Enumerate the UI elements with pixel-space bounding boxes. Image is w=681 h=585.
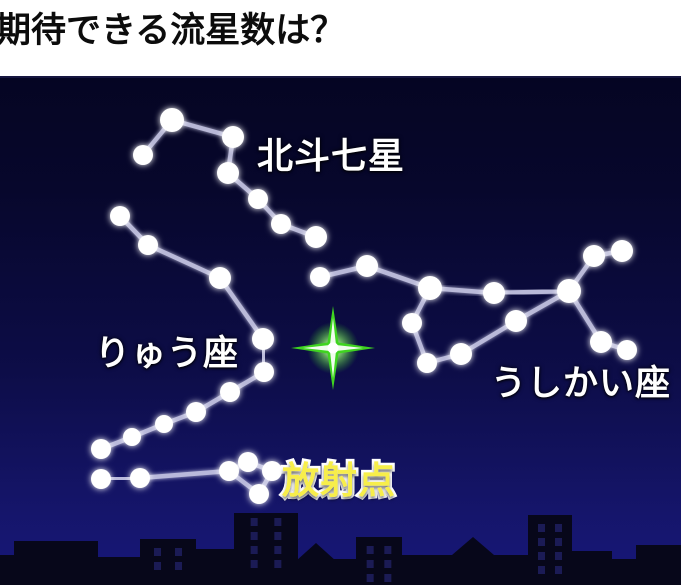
building-window: [555, 552, 562, 560]
building-silhouette: [636, 545, 681, 585]
star-point: [617, 340, 637, 360]
building-window: [367, 546, 374, 554]
star-point: [110, 206, 130, 226]
constellation-line: [140, 471, 229, 478]
radiant-label-text: 放射点: [282, 460, 396, 501]
star-point: [417, 353, 437, 373]
star-point: [557, 279, 581, 303]
building-window: [251, 560, 258, 568]
night-sky-panel: 北斗七星 りゅう座 うしかい座 放射点 北東: [0, 78, 681, 585]
building-window: [555, 538, 562, 546]
star-point: [418, 276, 442, 300]
page-title: 期待できる流星数は？: [0, 9, 345, 53]
star-point: [91, 439, 111, 459]
building-window: [538, 566, 545, 574]
building-silhouette: [528, 515, 572, 585]
star-point: [248, 189, 268, 209]
building-silhouette: [98, 557, 142, 585]
star-point: [590, 331, 612, 353]
building-window: [274, 546, 281, 554]
building-window: [154, 548, 161, 556]
star-point: [217, 162, 239, 184]
radiant-label: 放射点: [272, 458, 406, 504]
label-big-dipper: 北斗七星: [257, 138, 405, 174]
star-point: [305, 226, 327, 248]
star-point: [252, 328, 274, 350]
building-silhouette: [196, 549, 238, 585]
star-point: [450, 343, 472, 365]
building-window: [274, 532, 281, 540]
star-point: [186, 402, 206, 422]
star-point: [505, 310, 527, 332]
building-window: [367, 560, 374, 568]
radiant-point-icon: [291, 306, 375, 390]
star-point: [310, 267, 330, 287]
building-window: [274, 560, 281, 568]
star-chart-page: 期待できる流星数は？: [0, 0, 681, 585]
building-window: [274, 518, 281, 526]
star-point: [220, 382, 240, 402]
building-window: [175, 548, 182, 556]
star-point: [271, 214, 291, 234]
building-window: [251, 518, 258, 526]
star-point: [583, 245, 605, 267]
city-skyline: [0, 513, 681, 585]
star-point: [238, 452, 258, 472]
building-window: [367, 574, 374, 582]
star-point: [402, 313, 422, 333]
building-window: [555, 524, 562, 532]
building-window: [538, 552, 545, 560]
building-silhouette: [234, 513, 298, 585]
star-point: [356, 255, 378, 277]
building-window: [538, 524, 545, 532]
building-window: [384, 546, 391, 554]
constellation-line: [220, 278, 263, 339]
star-point: [155, 415, 173, 433]
building-silhouette: [452, 537, 494, 585]
label-draco: りゅう座: [95, 336, 239, 371]
star-point: [133, 145, 153, 165]
building-silhouette: [14, 541, 98, 585]
building-window: [154, 562, 161, 570]
building-window: [538, 538, 545, 546]
star-point: [249, 484, 269, 504]
building-silhouette: [494, 555, 532, 585]
building-silhouette: [356, 537, 402, 585]
building-silhouette: [330, 559, 356, 585]
star-point: [160, 108, 184, 132]
building-window: [251, 546, 258, 554]
title-band: 期待できる流星数は？: [0, 0, 681, 78]
building-window: [251, 532, 258, 540]
building-window: [555, 566, 562, 574]
building-silhouette: [570, 551, 612, 585]
star-point: [219, 461, 239, 481]
star-point: [222, 126, 244, 148]
label-bootes: うしかい座: [491, 366, 671, 401]
star-point: [123, 428, 141, 446]
star-point: [138, 235, 158, 255]
star-point: [254, 362, 274, 382]
building-window: [384, 560, 391, 568]
building-silhouette: [140, 539, 196, 585]
building-window: [384, 574, 391, 582]
constellation-line: [148, 245, 220, 278]
star-point: [130, 468, 150, 488]
building-window: [175, 562, 182, 570]
star-point: [483, 282, 505, 304]
star-point: [209, 267, 231, 289]
building-silhouette: [402, 555, 452, 585]
star-point: [91, 469, 111, 489]
star-point: [611, 240, 633, 262]
